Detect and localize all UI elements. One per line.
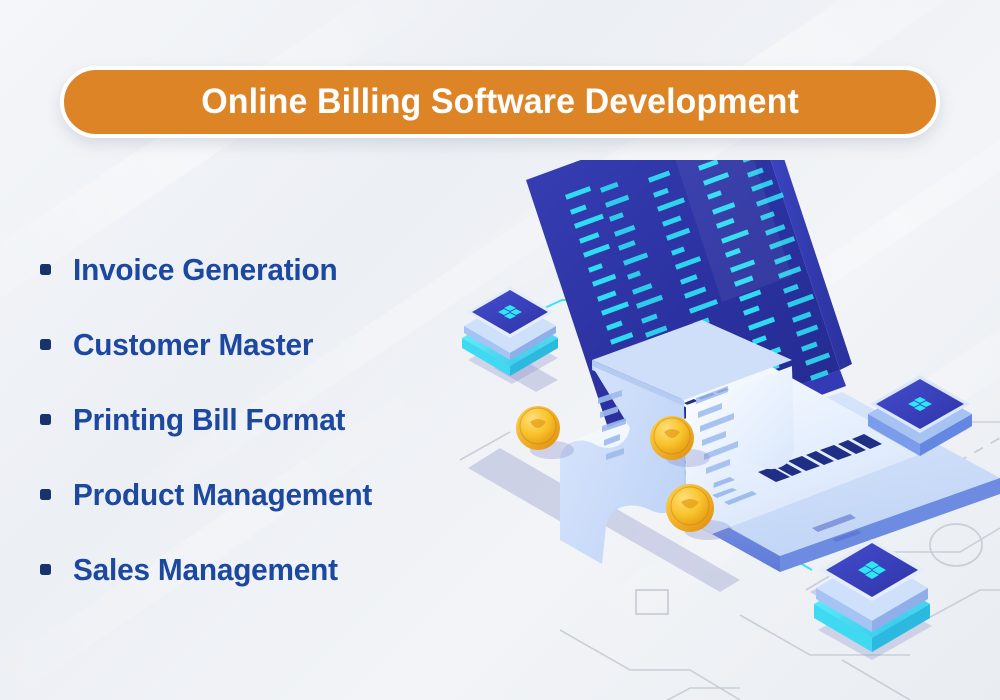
chip-top-left	[462, 286, 558, 384]
list-item: Sales Management	[40, 532, 470, 607]
feature-label: Printing Bill Format	[73, 402, 345, 438]
bullet-square-icon	[40, 414, 51, 425]
laptop-illustration	[516, 160, 1000, 572]
chip-bottom-right	[814, 539, 932, 660]
feature-label: Sales Management	[73, 552, 338, 588]
list-item: Customer Master	[40, 307, 470, 382]
title-banner: Online Billing Software Development	[60, 66, 940, 138]
list-item: Printing Bill Format	[40, 382, 470, 457]
circle-outline	[930, 524, 982, 566]
bullet-square-icon	[40, 264, 51, 275]
feature-label: Product Management	[73, 477, 372, 513]
bullet-square-icon	[40, 489, 51, 500]
bullet-square-icon	[40, 339, 51, 350]
list-item: Invoice Generation	[40, 232, 470, 307]
billing-illustration	[440, 160, 1000, 700]
feature-list: Invoice Generation Customer Master Print…	[40, 232, 470, 607]
feature-label: Customer Master	[73, 327, 313, 363]
rectangle-outline	[636, 590, 668, 614]
page-title: Online Billing Software Development	[201, 82, 799, 122]
list-item: Product Management	[40, 457, 470, 532]
bullet-square-icon	[40, 564, 51, 575]
poster-canvas: Online Billing Software Development Invo…	[0, 0, 1000, 700]
feature-label: Invoice Generation	[73, 252, 337, 288]
coin	[516, 406, 574, 459]
